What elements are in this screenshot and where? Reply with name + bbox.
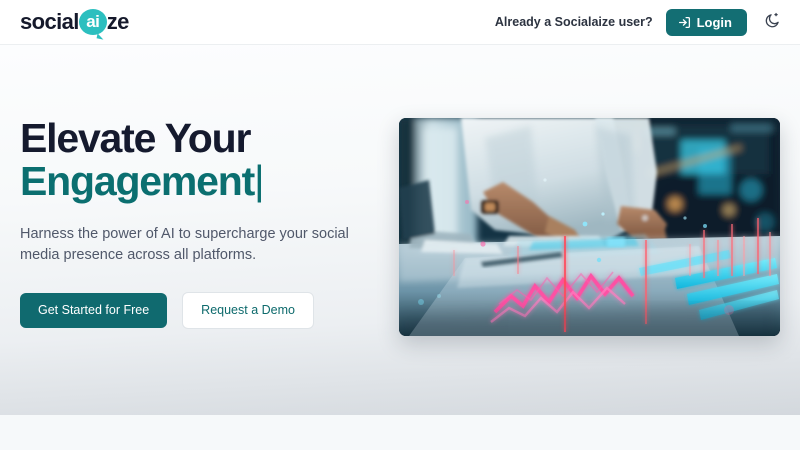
get-started-button[interactable]: Get Started for Free <box>20 293 167 328</box>
hero-image <box>399 118 780 336</box>
hero-cta-group: Get Started for Free Request a Demo <box>20 292 380 329</box>
landing-page: social ai ze Already a Socialaize user? … <box>0 0 800 450</box>
next-section-band <box>0 415 800 450</box>
login-button[interactable]: Login <box>666 9 747 36</box>
hero-title-line1: Elevate Your <box>20 115 250 161</box>
login-button-label: Login <box>697 16 732 29</box>
hero-title-line2: Engagement <box>20 158 254 204</box>
brand-logo[interactable]: social ai ze <box>20 9 129 35</box>
header-actions: Already a Socialaize user? Login <box>495 9 784 36</box>
request-demo-button[interactable]: Request a Demo <box>182 292 314 329</box>
page-title: Elevate Your Engagement| <box>20 117 380 203</box>
speech-bubble-icon: ai <box>79 9 107 35</box>
sign-in-icon <box>678 16 691 29</box>
hero-subtitle: Harness the power of AI to supercharge y… <box>20 224 365 266</box>
logo-text-prefix: social <box>20 11 79 33</box>
hero-copy: Elevate Your Engagement| Harness the pow… <box>20 117 380 329</box>
dark-mode-toggle[interactable] <box>760 10 784 34</box>
moon-stars-icon <box>764 12 781 32</box>
already-user-label: Already a Socialaize user? <box>495 15 653 29</box>
site-header: social ai ze Already a Socialaize user? … <box>0 0 800 45</box>
logo-text-bubble: ai <box>86 13 99 30</box>
logo-text-suffix: ze <box>107 11 129 33</box>
typing-caret: | <box>254 159 263 202</box>
hero-section: Elevate Your Engagement| Harness the pow… <box>0 45 800 415</box>
hero-title-line2-wrap: Engagement| <box>20 160 380 203</box>
